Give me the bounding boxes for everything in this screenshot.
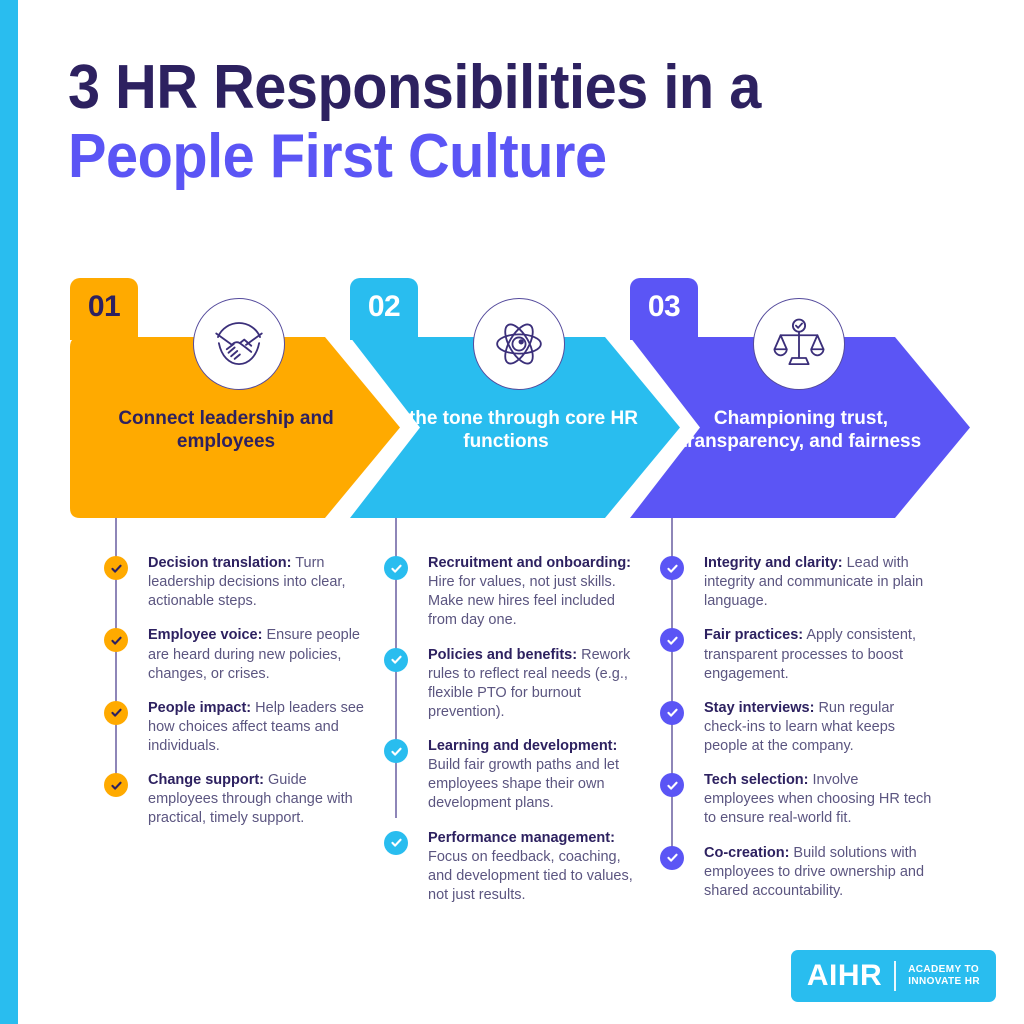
scales-icon (753, 298, 845, 390)
bullet-text: Focus on feedback, coaching, and develop… (428, 849, 633, 903)
check-icon (384, 648, 408, 672)
step-heading-2: Set the tone through core HR functions (368, 408, 644, 454)
list-item: Co-creation: Build solutions with employ… (660, 844, 932, 901)
check-icon (660, 846, 684, 870)
bullet-term: Learning and development: (428, 738, 617, 754)
step-heading-1: Connect leadership and employees (88, 408, 364, 454)
atom-icon (473, 298, 565, 390)
logo-wordmark: AIHR (807, 961, 882, 991)
check-icon (660, 556, 684, 580)
bullet-text: Hire for values, not just skills. Make n… (428, 574, 616, 628)
list-item: Stay interviews: Run regular check-ins t… (660, 699, 932, 756)
step-card-1[interactable]: 01 (70, 0, 400, 560)
bullet-text: Build fair growth paths and let employee… (428, 757, 619, 811)
check-icon (384, 831, 408, 855)
step-card-3[interactable]: 03 Championing trust (630, 0, 970, 560)
bullet-column-2: Recruitment and onboarding: Hire for val… (384, 518, 646, 920)
list-item: People impact: Help leaders see how choi… (104, 699, 372, 756)
list-item: Learning and development: Build fair gro… (384, 737, 646, 814)
bullet-term: Policies and benefits: (428, 647, 577, 663)
bullet-term: Stay interviews: (704, 700, 814, 716)
list-item: Performance management: Focus on feedbac… (384, 829, 646, 906)
check-icon (660, 701, 684, 725)
bullet-term: People impact: (148, 700, 251, 716)
infographic-canvas: 3 HR Responsibilities in a People First … (0, 0, 1024, 1024)
bullet-column-1: Decision translation: Turn leadership de… (104, 518, 372, 844)
list-item: Recruitment and onboarding: Hire for val… (384, 554, 646, 631)
logo-tagline: ACADEMY TO INNOVATE HR (908, 964, 980, 989)
list-item: Change support: Guide employees through … (104, 771, 372, 828)
bullet-columns: Decision translation: Turn leadership de… (0, 518, 1024, 958)
handshake-icon (193, 298, 285, 390)
bullet-term: Employee voice: (148, 627, 262, 643)
logo-tagline-line-2: INNOVATE HR (908, 976, 980, 989)
check-icon (104, 701, 128, 725)
step-heading-3: Championing trust, transparency, and fai… (658, 408, 944, 454)
list-item: Integrity and clarity: Lead with integri… (660, 554, 932, 611)
bullet-column-3: Integrity and clarity: Lead with integri… (660, 518, 932, 916)
aihr-logo[interactable]: AIHR ACADEMY TO INNOVATE HR (791, 950, 996, 1002)
list-item: Fair practices: Apply consistent, transp… (660, 626, 932, 683)
check-icon (660, 628, 684, 652)
bullet-term: Co-creation: (704, 845, 789, 861)
list-item: Decision translation: Turn leadership de… (104, 554, 372, 611)
list-item: Employee voice: Ensure people are heard … (104, 626, 372, 683)
list-item: Policies and benefits: Rework rules to r… (384, 646, 646, 723)
logo-tagline-line-1: ACADEMY TO (908, 964, 980, 977)
list-item: Tech selection: Involve employees when c… (660, 771, 932, 828)
check-icon (104, 773, 128, 797)
bullet-term: Change support: (148, 772, 264, 788)
steps-arrow-row: 01 (0, 0, 1024, 560)
bullet-term: Tech selection: (704, 772, 808, 788)
check-icon (104, 628, 128, 652)
bullet-term: Performance management: (428, 830, 615, 846)
step-number-tab-1: 01 (70, 278, 138, 340)
check-icon (384, 739, 408, 763)
check-icon (660, 773, 684, 797)
logo-divider (894, 961, 896, 991)
bullet-term: Fair practices: (704, 627, 803, 643)
